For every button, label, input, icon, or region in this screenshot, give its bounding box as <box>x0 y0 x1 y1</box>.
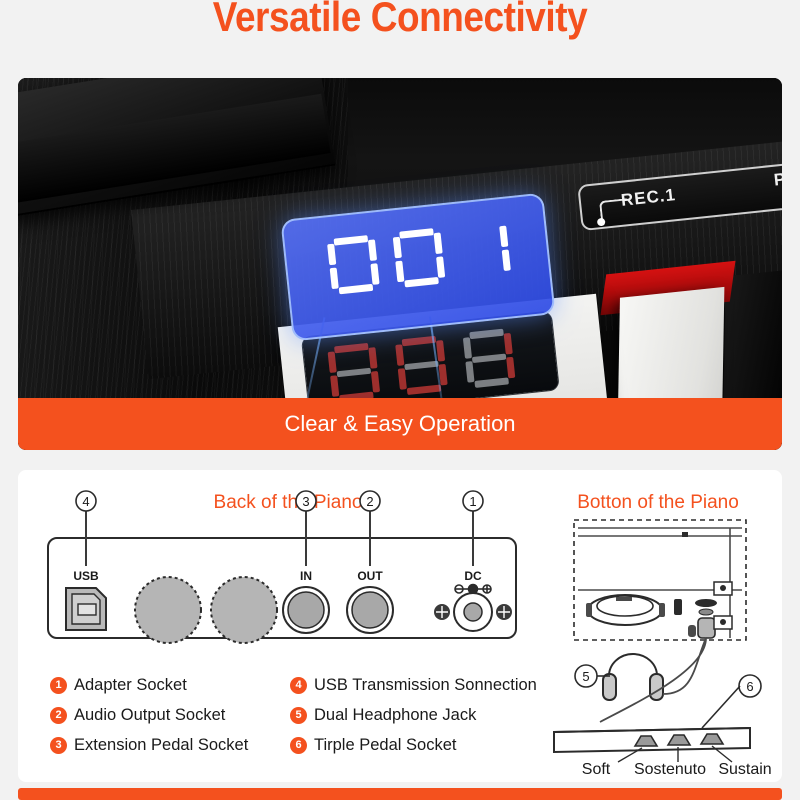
led-digits <box>327 328 516 403</box>
led-digit-3 <box>462 328 516 389</box>
legend-label: Dual Headphone Jack <box>314 706 476 725</box>
legend-label: Audio Output Socket <box>74 706 225 725</box>
legend-item: 4 USB Transmission Sonnection <box>290 670 537 700</box>
legend-label: Tirple Pedal Socket <box>314 736 456 755</box>
svg-text:IN: IN <box>300 569 312 583</box>
svg-text:DC: DC <box>464 569 482 583</box>
legend-column-1: 1 Adapter Socket 2 Audio Output Socket 3… <box>50 670 248 760</box>
led-digit-1 <box>327 342 381 403</box>
legend-number: 3 <box>50 737 67 754</box>
svg-text:6: 6 <box>746 679 753 694</box>
legend-label: Extension Pedal Socket <box>74 736 248 755</box>
pedal-label-soft: Soft <box>582 761 611 778</box>
photo-caption-text: Clear & Easy Operation <box>284 411 515 437</box>
page-title: Versatile Connectivity <box>48 0 752 48</box>
legend-number: 2 <box>50 707 67 724</box>
piano-photo: REC.1 P <box>18 78 782 450</box>
back-callout-circles: 4 3 2 1 <box>76 491 483 511</box>
svg-text:4: 4 <box>82 494 89 509</box>
magnified-digits <box>327 221 512 296</box>
svg-text:5: 5 <box>582 669 589 684</box>
legend-item: 2 Audio Output Socket <box>50 700 248 730</box>
legend-number: 5 <box>290 707 307 724</box>
legend-label: USB Transmission Sonnection <box>314 676 537 695</box>
legend-item: 3 Extension Pedal Socket <box>50 730 248 760</box>
legend-item: 1 Adapter Socket <box>50 670 248 700</box>
page-root: Versatile Connectivity REC.1 P <box>0 0 800 800</box>
legend-item: 5 Dual Headphone Jack <box>290 700 537 730</box>
product-photo-card: REC.1 P <box>18 78 782 450</box>
magnified-digit-2 <box>392 227 446 288</box>
svg-text:USB: USB <box>73 569 99 583</box>
svg-text:1: 1 <box>469 494 476 509</box>
pedal-label-sustain: Sustain <box>718 761 771 778</box>
rec-label-text: REC.1 <box>620 185 677 211</box>
partial-label-text: P <box>773 169 782 190</box>
legend-number: 4 <box>290 677 307 694</box>
svg-text:2: 2 <box>366 494 373 509</box>
legend-item: 6 Tirple Pedal Socket <box>290 730 537 760</box>
rec-pointer-dot <box>597 218 606 227</box>
photo-caption-bar: Clear & Easy Operation <box>18 398 782 450</box>
bottom-accent-strip <box>18 788 782 800</box>
svg-text:OUT: OUT <box>357 569 383 583</box>
legend-number: 6 <box>290 737 307 754</box>
legend-number: 1 <box>50 677 67 694</box>
magnified-digit-1 <box>327 234 381 295</box>
pedal-label-sostenuto: Sostenuto <box>634 761 706 778</box>
pedals <box>635 734 723 746</box>
headphone-cable <box>663 638 706 694</box>
svg-text:3: 3 <box>302 494 309 509</box>
magnified-digit-3 <box>458 221 512 282</box>
legend-label: Adapter Socket <box>74 676 187 695</box>
legend-column-2: 4 USB Transmission Sonnection 5 Dual Hea… <box>290 670 537 760</box>
connectivity-diagram-card: Back of the Piano Botton of the Piano 4 … <box>18 470 782 782</box>
